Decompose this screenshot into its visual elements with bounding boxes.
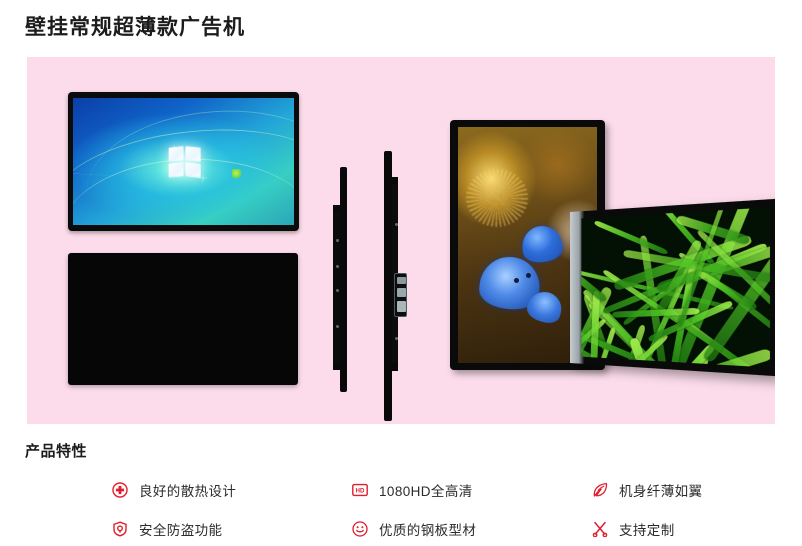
feature-item[interactable]: 良好的散热设计 bbox=[112, 480, 352, 500]
product-page: 壁挂常规超薄款广告机 bbox=[0, 0, 802, 546]
feature-label: 优质的钢板型材 bbox=[379, 519, 476, 539]
feature-label: 良好的散热设计 bbox=[139, 480, 236, 500]
flower-center-dot bbox=[514, 278, 519, 283]
io-port-panel bbox=[394, 273, 407, 317]
screw-dot bbox=[336, 289, 339, 292]
side-profile-thin-left bbox=[340, 167, 347, 392]
page-title: 壁挂常规超薄款广告机 bbox=[25, 11, 245, 41]
cross-circle-icon bbox=[112, 482, 128, 498]
section-title-features: 产品特性 bbox=[25, 440, 87, 461]
feather-wing-icon bbox=[592, 482, 608, 498]
feature-item[interactable]: 安全防盗功能 bbox=[112, 519, 352, 539]
feature-list: 良好的散热设计HD1080HD全高清机身纤薄如翼安全防盗功能优质的钢板型材支持定… bbox=[112, 470, 784, 546]
feature-item[interactable]: 机身纤薄如翼 bbox=[592, 480, 784, 500]
grass-photo-screen bbox=[581, 207, 770, 367]
feature-label: 安全防盗功能 bbox=[139, 519, 222, 539]
angled-display-grass bbox=[570, 199, 775, 377]
screw-dot bbox=[336, 325, 339, 328]
feature-item[interactable]: 支持定制 bbox=[592, 519, 784, 539]
feature-label: 机身纤薄如翼 bbox=[619, 480, 702, 500]
scissors-icon bbox=[592, 521, 608, 537]
side-profile-thin-right bbox=[384, 151, 392, 421]
svg-text:HD: HD bbox=[356, 487, 365, 494]
landscape-display-windows bbox=[68, 92, 299, 231]
feature-label: 1080HD全高清 bbox=[379, 480, 473, 500]
shield-lock-icon bbox=[112, 521, 128, 537]
feature-label: 支持定制 bbox=[619, 519, 675, 539]
screw-dot bbox=[336, 265, 339, 268]
feature-item[interactable]: 优质的钢板型材 bbox=[352, 519, 592, 539]
sparkle-icon bbox=[199, 174, 207, 182]
flower-fuzz-texture bbox=[466, 169, 528, 227]
landscape-display-off bbox=[68, 253, 298, 385]
windows-wallpaper-screen bbox=[73, 98, 294, 225]
smiley-face-icon bbox=[352, 521, 368, 537]
blue-flower-petal bbox=[520, 224, 565, 265]
screw-dot bbox=[395, 337, 398, 340]
wallpaper-leaf-glow bbox=[232, 169, 242, 178]
feature-item[interactable]: HD1080HD全高清 bbox=[352, 480, 592, 500]
sparkle-icon bbox=[170, 145, 178, 153]
windows-logo-icon bbox=[168, 146, 199, 175]
screw-dot bbox=[336, 239, 339, 242]
hd-badge-icon: HD bbox=[352, 482, 368, 498]
wallpaper-light-arcs bbox=[73, 98, 294, 225]
hero-product-image bbox=[27, 57, 775, 424]
screw-dot bbox=[395, 223, 398, 226]
